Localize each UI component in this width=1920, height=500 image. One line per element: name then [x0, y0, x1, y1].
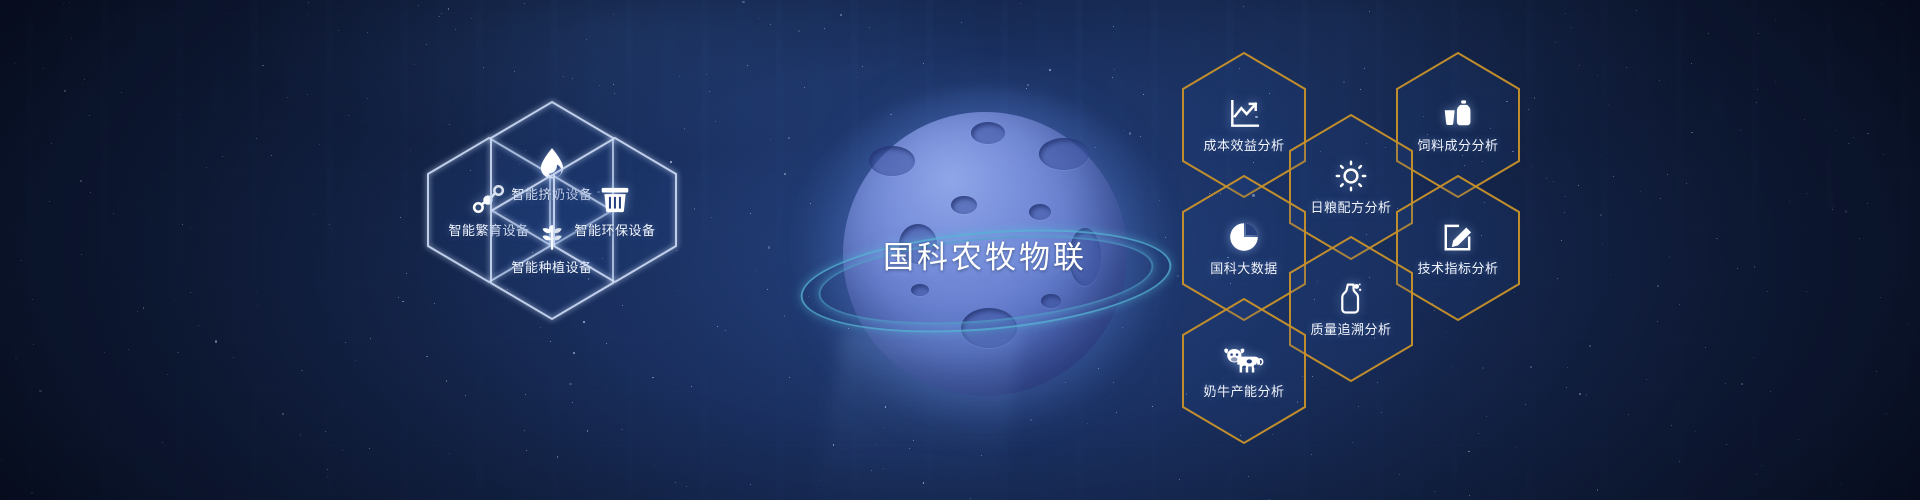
hex-label: 国科大数据: [1210, 258, 1278, 277]
hex-label: 奶牛产能分析: [1203, 381, 1284, 400]
pie-chart-icon: [1227, 220, 1261, 254]
page-title: 国科农牧物联: [843, 232, 1127, 277]
milk-bottle-cup-icon: [1441, 97, 1475, 131]
hex-cell-cow-capacity-analysis[interactable]: 奶牛产能分析: [1181, 298, 1307, 444]
edit-square-icon: [1441, 220, 1475, 254]
milk-bottle-icon: [1334, 281, 1368, 315]
trash-bin-icon: [598, 182, 632, 216]
hex-label: 质量追溯分析: [1310, 319, 1391, 338]
hex-label: 日粮配方分析: [1310, 197, 1391, 216]
sun-icon: [1334, 159, 1368, 193]
line-chart-icon: [1227, 97, 1261, 131]
center-planet-group: 国科农牧物联: [0, 0, 1920, 500]
hex-label: 技术指标分析: [1417, 258, 1498, 277]
hex-label: 智能环保设备: [574, 220, 655, 239]
hex-label: 成本效益分析: [1203, 135, 1284, 154]
banner-stage: 国科农牧物联 智能繁育设备: [0, 0, 1920, 500]
cow-icon: [1223, 343, 1265, 377]
hex-label: 饲料成分分析: [1417, 135, 1498, 154]
hex-cell-environment-equipment[interactable]: 智能环保设备: [552, 137, 678, 283]
planet-light-beam: [818, 330, 1023, 500]
